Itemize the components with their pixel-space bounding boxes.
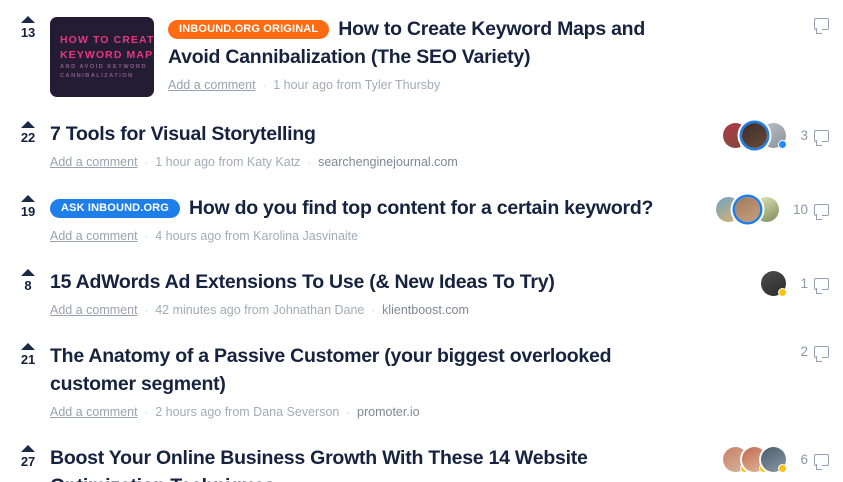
post-item: 21The Anatomy of a Passive Customer (you… [0,341,843,421]
post-meta: Add a comment·42 minutes ago from Johnat… [50,302,681,319]
post-source-domain[interactable]: promoter.io [357,405,420,419]
upvote-control[interactable]: 19 [6,193,50,219]
comment-count: 1 [800,277,808,291]
add-comment-link[interactable]: Add a comment [50,303,138,317]
comment-bubble-icon[interactable] [814,346,829,358]
upvote-control[interactable]: 22 [6,119,50,145]
comment-control[interactable]: 2 [800,345,829,359]
post-rail: 3 [681,119,829,148]
post-timestamp-author: 1 hour ago from Katy Katz [155,155,300,169]
upvote-control[interactable]: 21 [6,341,50,367]
comment-count: 3 [800,129,808,143]
post-item: 27Boost Your Online Business Growth With… [0,443,843,482]
upvote-arrow-icon[interactable] [21,269,35,276]
post-source-domain[interactable]: klientboost.com [382,303,469,317]
meta-separator: · [145,231,149,243]
post-title[interactable]: 15 AdWords Ad Extensions To Use (& New I… [50,271,555,293]
upvote-control[interactable]: 13 [6,14,50,40]
comment-control[interactable]: 10 [793,203,829,217]
comment-bubble-icon[interactable] [814,18,829,30]
comment-bubble-icon[interactable] [814,454,829,466]
meta-separator: · [263,80,267,92]
post-title-line: The Anatomy of a Passive Customer (your … [50,343,681,399]
post-body: 15 AdWords Ad Extensions To Use (& New I… [50,267,681,319]
thumbnail-line3: AND AVOID KEYWORD [60,63,154,72]
meta-separator: · [145,305,149,317]
post-rail [681,14,829,30]
post-body: ASK INBOUND.ORGHow do you find top conte… [50,193,681,245]
post-timestamp-author: 1 hour ago from Tyler Thursby [273,78,440,92]
comment-control[interactable]: 1 [800,277,829,291]
meta-separator: · [145,407,149,419]
participant-avatars [723,447,786,472]
post-item: 13HOW TO CREATEKEYWORD MAPSAND AVOID KEY… [0,14,843,97]
post-rail: 1 [681,267,829,296]
thumbnail-line2: KEYWORD MAPS [60,48,154,63]
comment-count: 6 [800,453,808,467]
post-title-line: 15 AdWords Ad Extensions To Use (& New I… [50,269,681,297]
upvote-control[interactable]: 8 [6,267,50,293]
avatar-status-dot [778,464,787,473]
post-source-domain[interactable]: searchenginejournal.com [318,155,458,169]
meta-separator: · [371,305,375,317]
post-title[interactable]: 7 Tools for Visual Storytelling [50,123,316,145]
avatar-status-dot [778,288,787,297]
add-comment-link[interactable]: Add a comment [168,78,256,92]
upvote-arrow-icon[interactable] [21,445,35,452]
post-meta: Add a comment·4 hours ago from Karolina … [50,228,681,245]
meta-separator: · [307,157,311,169]
post-title[interactable]: How do you find top content for a certai… [189,197,653,219]
meta-separator: · [346,407,350,419]
avatar[interactable] [761,271,786,296]
participant-avatars [723,123,786,148]
comment-count: 2 [800,345,808,359]
upvote-arrow-icon[interactable] [21,16,35,23]
avatar[interactable] [761,447,786,472]
post-feed: 13HOW TO CREATEKEYWORD MAPSAND AVOID KEY… [0,0,843,482]
vote-count: 13 [21,26,35,40]
add-comment-link[interactable]: Add a comment [50,155,138,169]
add-comment-link[interactable]: Add a comment [50,405,138,419]
vote-count: 22 [21,131,35,145]
post-body: 7 Tools for Visual StorytellingAdd a com… [50,119,681,171]
post-meta: Add a comment·1 hour ago from Katy Katz·… [50,154,681,171]
post-thumbnail[interactable]: HOW TO CREATEKEYWORD MAPSAND AVOID KEYWO… [50,17,154,97]
upvote-arrow-icon[interactable] [21,343,35,350]
add-comment-link[interactable]: Add a comment [50,229,138,243]
comment-control[interactable] [808,18,829,30]
post-timestamp-author: 42 minutes ago from Johnathan Dane [155,303,364,317]
post-meta: Add a comment·1 hour ago from Tyler Thur… [168,77,681,94]
thumbnail-line1: HOW TO CREATE [60,33,154,48]
post-title-line: Boost Your Online Business Growth With T… [50,445,681,482]
post-meta: Add a comment·2 hours ago from Dana Seve… [50,404,681,421]
comment-control[interactable]: 6 [800,453,829,467]
comment-bubble-icon[interactable] [814,204,829,216]
vote-count: 21 [21,353,35,367]
upvote-arrow-icon[interactable] [21,121,35,128]
post-timestamp-author: 4 hours ago from Karolina Jasvinaite [155,229,358,243]
post-rail: 6 [681,443,829,472]
upvote-control[interactable]: 27 [6,443,50,469]
participant-avatars [716,197,779,222]
avatar-status-dot [778,140,787,149]
post-title[interactable]: The Anatomy of a Passive Customer (your … [50,345,611,395]
vote-count: 19 [21,205,35,219]
post-body: The Anatomy of a Passive Customer (your … [50,341,681,421]
post-item: 227 Tools for Visual StorytellingAdd a c… [0,119,843,171]
thumbnail-line4: CANNIBALIZATION [60,72,154,81]
post-title[interactable]: Boost Your Online Business Growth With T… [50,447,588,482]
post-title-line: ASK INBOUND.ORGHow do you find top conte… [50,195,681,223]
post-badge[interactable]: ASK INBOUND.ORG [50,199,180,218]
post-body: Boost Your Online Business Growth With T… [50,443,681,482]
post-item: 19ASK INBOUND.ORGHow do you find top con… [0,193,843,245]
comment-bubble-icon[interactable] [814,278,829,290]
participant-avatars [761,271,786,296]
post-badge[interactable]: INBOUND.ORG ORIGINAL [168,20,329,39]
post-timestamp-author: 2 hours ago from Dana Severson [155,405,339,419]
post-rail: 2 [681,341,829,359]
post-rail: 10 [681,193,829,222]
avatar[interactable] [735,197,760,222]
post-body: INBOUND.ORG ORIGINALHow to Create Keywor… [168,14,681,94]
vote-count: 8 [24,279,31,293]
upvote-arrow-icon[interactable] [21,195,35,202]
comment-control[interactable]: 3 [800,129,829,143]
post-item: 815 AdWords Ad Extensions To Use (& New … [0,267,843,319]
post-title-line: 7 Tools for Visual Storytelling [50,121,681,149]
post-title-line: INBOUND.ORG ORIGINALHow to Create Keywor… [168,16,681,72]
meta-separator: · [145,157,149,169]
vote-count: 27 [21,455,35,469]
comment-bubble-icon[interactable] [814,130,829,142]
comment-count: 10 [793,203,808,217]
